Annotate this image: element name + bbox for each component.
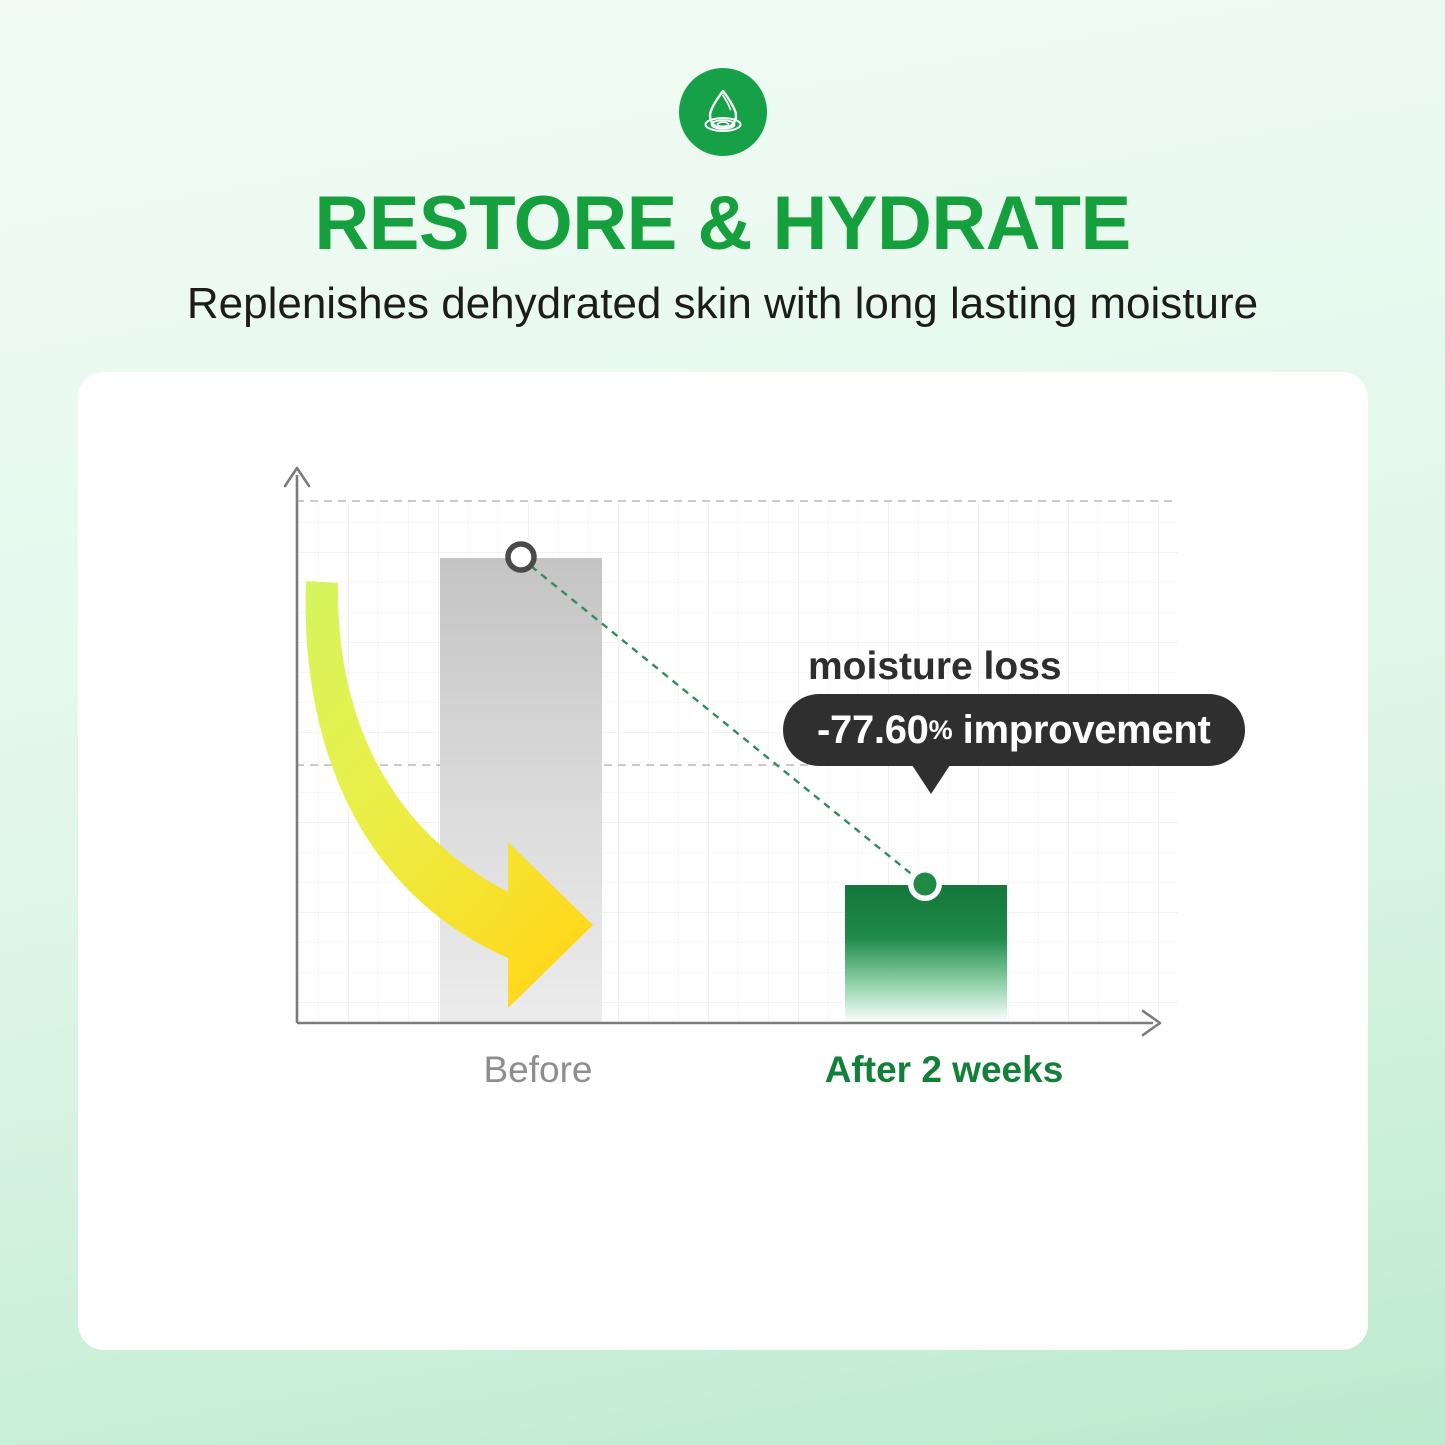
page-subtitle: Replenishes dehydrated skin with long la… [0, 278, 1445, 330]
bar-chart: moisture loss -77.60%improvement Before … [78, 372, 1368, 1350]
metric-label: moisture loss [808, 644, 1062, 690]
page-title: RESTORE & HYDRATE [0, 184, 1445, 264]
badge-suffix: improvement [953, 708, 1211, 753]
bar-after [845, 885, 1007, 1023]
badge-percent-symbol: % [929, 715, 953, 746]
badge-pointer-tail [910, 762, 952, 794]
improvement-badge: -77.60%improvement [783, 694, 1245, 766]
marker-before [508, 544, 534, 570]
header-section: RESTORE & HYDRATE Replenishes dehydrated… [0, 0, 1445, 330]
badge-value: -77.60 [817, 708, 929, 753]
water-drop-ripple-icon [679, 68, 767, 156]
chart-canvas [78, 372, 1368, 1350]
marker-after [914, 873, 937, 896]
category-label-after: After 2 weeks [796, 1048, 1092, 1092]
infographic-root: RESTORE & HYDRATE Replenishes dehydrated… [0, 0, 1445, 1445]
category-label-before: Before [390, 1048, 686, 1092]
chart-card: moisture loss -77.60%improvement Before … [78, 372, 1368, 1350]
